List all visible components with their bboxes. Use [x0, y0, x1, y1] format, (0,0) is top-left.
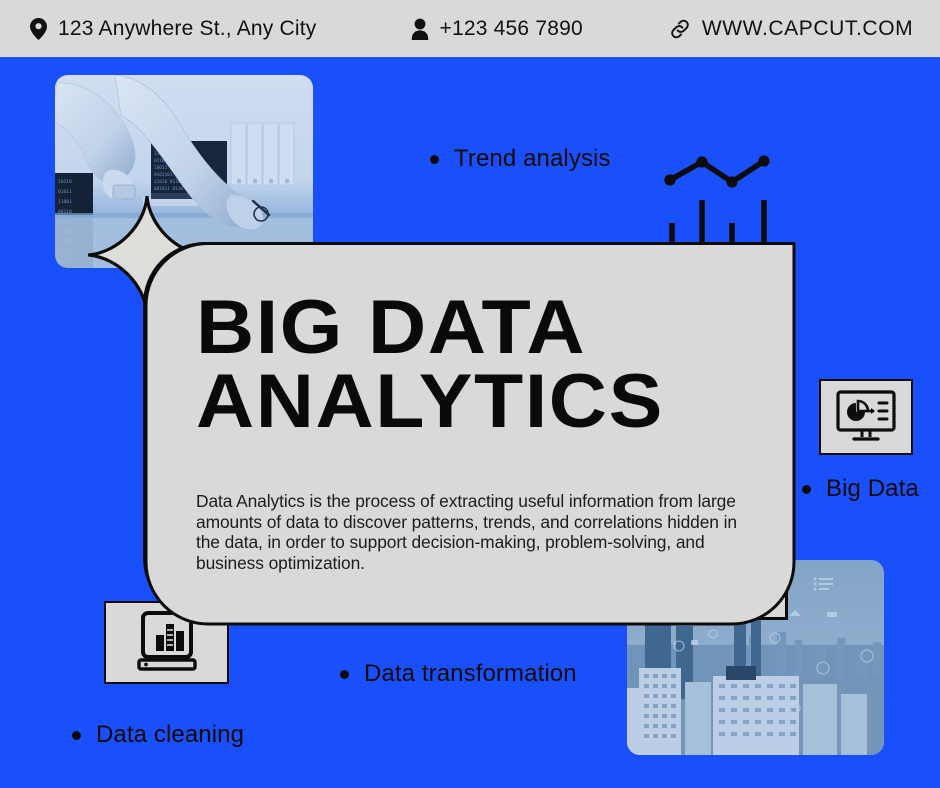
person-icon	[411, 18, 429, 40]
bullet-dot-icon	[340, 670, 349, 679]
bullet-label: Data cleaning	[96, 721, 244, 749]
title-line-2: ANALYTICS	[196, 365, 790, 439]
map-pin-icon	[30, 18, 47, 40]
bullet-dot-icon	[802, 485, 811, 494]
bullet-trend-analysis: Trend analysis	[430, 145, 611, 173]
page-title: BIG DATA ANALYTICS	[196, 291, 790, 440]
bullet-big-data: Big Data	[802, 475, 919, 503]
bullet-dot-icon	[72, 731, 81, 740]
header-phone: +123 456 7890	[411, 17, 583, 41]
bullet-label: Data transformation	[364, 660, 577, 688]
title-line-1: BIG DATA	[196, 285, 586, 370]
bullet-label: Big Data	[826, 475, 919, 503]
bullet-data-transformation: Data transformation	[340, 660, 577, 688]
main-content-card: BIG DATA ANALYTICS Data Analytics is the…	[143, 242, 788, 620]
header-website-text: WWW.CAPCUT.COM	[702, 17, 913, 41]
header-phone-text: +123 456 7890	[440, 17, 583, 41]
contact-header-bar: 123 Anywhere St., Any City +123 456 7890…	[0, 0, 940, 57]
monitor-pie-chart-icon	[819, 379, 913, 455]
header-address: 123 Anywhere St., Any City	[30, 17, 317, 41]
header-website: WWW.CAPCUT.COM	[669, 17, 913, 41]
header-address-text: 123 Anywhere St., Any City	[58, 17, 317, 41]
bullet-label: Trend analysis	[454, 145, 611, 173]
link-icon	[669, 18, 691, 40]
card-body-text: Data Analytics is the process of extract…	[196, 491, 748, 573]
bullet-data-cleaning: Data cleaning	[72, 721, 244, 749]
bullet-dot-icon	[430, 155, 439, 164]
